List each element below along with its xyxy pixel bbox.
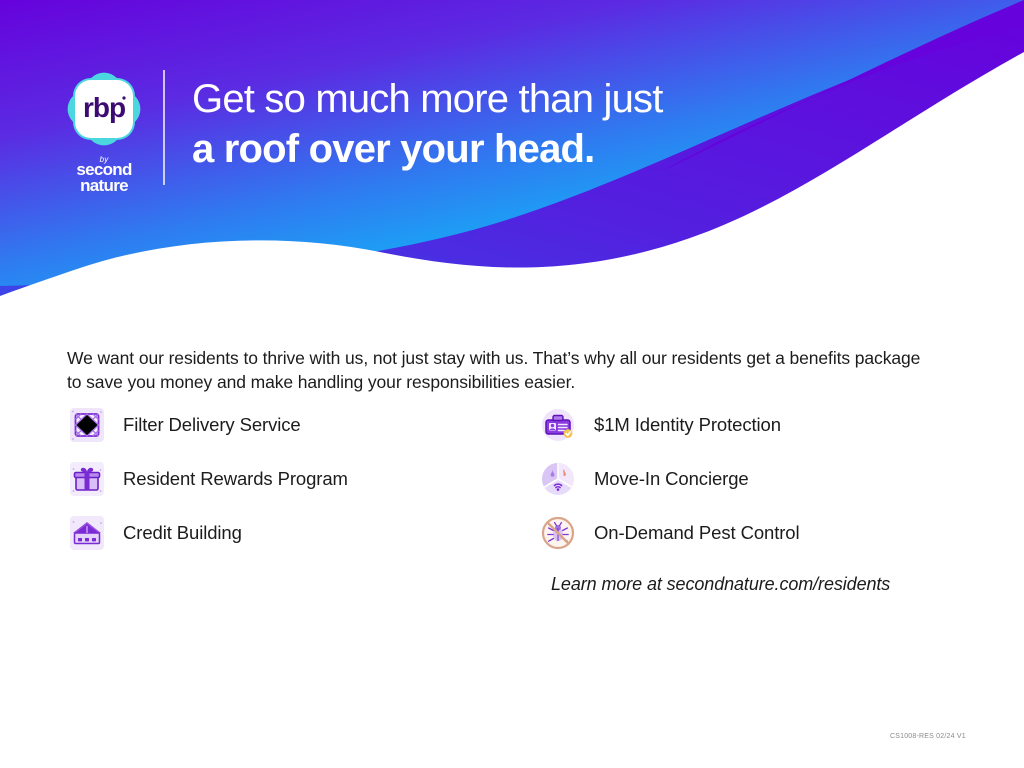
- house-credit-icon: [67, 513, 107, 553]
- benefit-label: Resident Rewards Program: [123, 468, 348, 490]
- headline-line-2: a roof over your head.: [192, 126, 912, 173]
- hero-banner: rbp by second nature Get so much more th…: [0, 0, 1024, 300]
- no-pest-icon: [538, 513, 578, 553]
- logo-nature-label: nature: [56, 178, 152, 194]
- benefits-column-left: Filter Delivery Service: [67, 398, 517, 560]
- rbp-rosette-icon: rbp: [61, 66, 147, 152]
- svg-text:rbp: rbp: [83, 92, 125, 123]
- benefit-label: Filter Delivery Service: [123, 414, 301, 436]
- learn-more-cta[interactable]: Learn more at secondnature.com/residents: [551, 574, 890, 595]
- benefit-item-pest-control: On-Demand Pest Control: [538, 506, 998, 560]
- benefit-item-filter-delivery-service: Filter Delivery Service: [67, 398, 517, 452]
- logo-divider: [163, 70, 165, 185]
- document-code: CS1008-RES 02/24 V1: [890, 733, 966, 740]
- gift-box-icon: [67, 459, 107, 499]
- benefit-item-credit-building: Credit Building: [67, 506, 517, 560]
- hero-headline: Get so much more than just a roof over y…: [192, 76, 912, 173]
- intro-paragraph: We want our residents to thrive with us,…: [67, 346, 937, 396]
- benefit-label: On-Demand Pest Control: [594, 522, 800, 544]
- rbp-logo-mark: rbp: [61, 66, 147, 152]
- content-area: We want our residents to thrive with us,…: [0, 300, 1024, 768]
- benefit-item-move-in-concierge: Move-In Concierge: [538, 452, 998, 506]
- benefit-label: Move-In Concierge: [594, 468, 749, 490]
- air-filter-icon: [67, 405, 107, 445]
- id-wallet-icon: [538, 405, 578, 445]
- benefit-item-resident-rewards-program: Resident Rewards Program: [67, 452, 517, 506]
- benefit-item-identity-protection: $1M Identity Protection: [538, 398, 998, 452]
- rbp-logo: rbp by second nature: [56, 66, 152, 190]
- benefit-label: Credit Building: [123, 522, 242, 544]
- benefits-column-right: $1M Identity Protection: [538, 398, 998, 560]
- benefit-label: $1M Identity Protection: [594, 414, 781, 436]
- utilities-wifi-icon: [538, 459, 578, 499]
- headline-line-1: Get so much more than just: [192, 76, 912, 123]
